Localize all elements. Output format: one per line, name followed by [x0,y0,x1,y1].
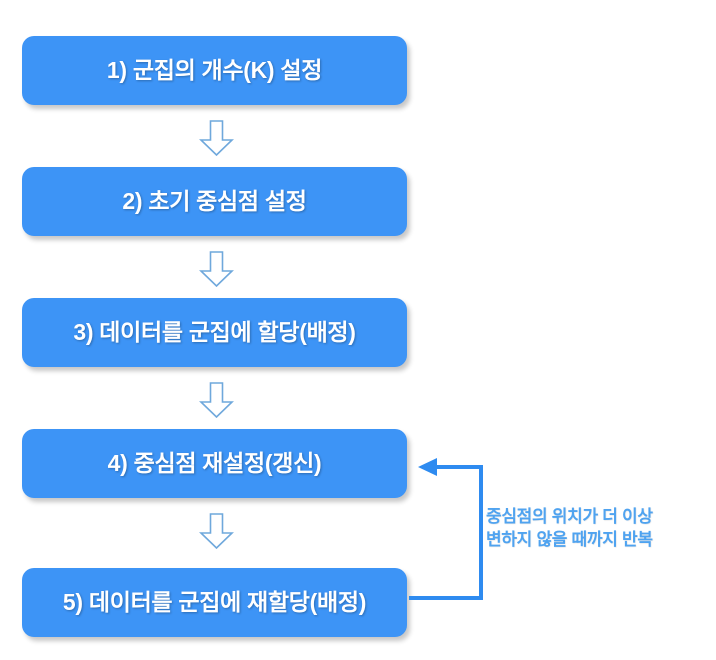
flowchart-canvas: 1) 군집의 개수(K) 설정 2) 초기 중심점 설정 3) 데이터를 군집에… [0,0,716,660]
flow-step-box-3[interactable]: 3) 데이터를 군집에 할당(배정) [22,298,407,367]
flow-step-label-1: 1) 군집의 개수(K) 설정 [107,59,322,82]
flow-step-label-4: 4) 중심점 재설정(갱신) [108,452,322,475]
loop-condition-note-line-2: 변하지 않을 때까지 반복 [486,529,706,552]
down-arrow-icon-2 [199,251,234,287]
loop-condition-note-line-1: 중심점의 위치가 더 이상 [486,506,706,529]
down-arrow-icon-3 [199,382,234,418]
flow-step-label-5: 5) 데이터를 군집에 재할당(배정) [63,591,366,614]
flow-step-label-3: 3) 데이터를 군집에 할당(배정) [73,321,355,344]
flow-step-box-4[interactable]: 4) 중심점 재설정(갱신) [22,429,407,498]
flow-step-label-2: 2) 초기 중심점 설정 [122,190,306,213]
flow-step-box-1[interactable]: 1) 군집의 개수(K) 설정 [22,36,407,105]
flow-step-box-2[interactable]: 2) 초기 중심점 설정 [22,167,407,236]
loop-condition-note: 중심점의 위치가 더 이상 변하지 않을 때까지 반복 [486,506,706,552]
flow-step-box-5[interactable]: 5) 데이터를 군집에 재할당(배정) [22,568,407,637]
feedback-loop-arrow [407,450,497,615]
down-arrow-icon-1 [199,120,234,156]
down-arrow-icon-4 [199,513,234,549]
